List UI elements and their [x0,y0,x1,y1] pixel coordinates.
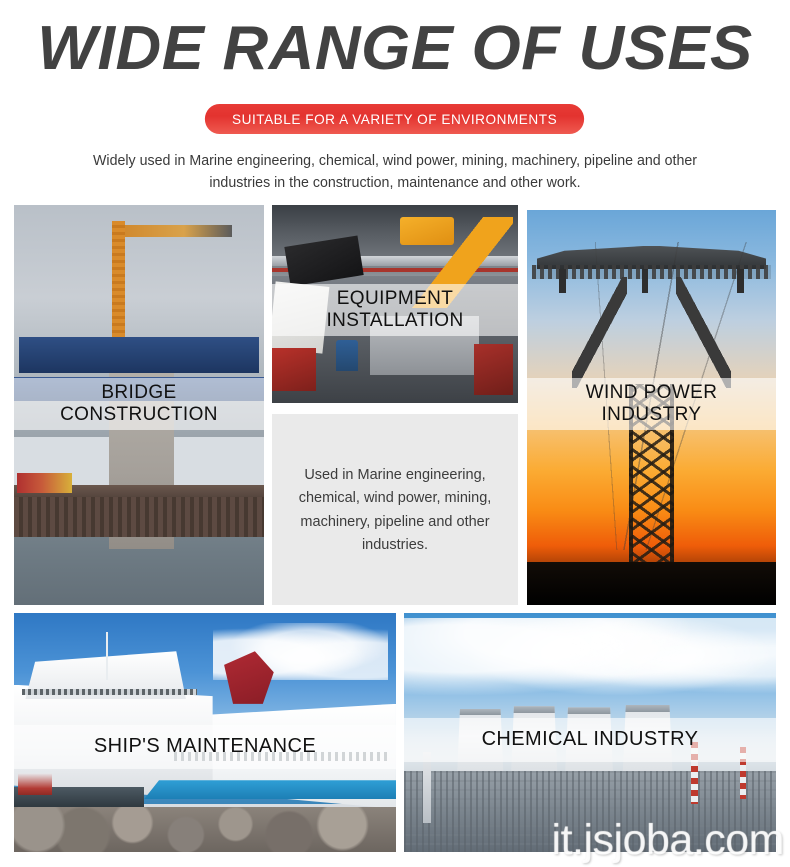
card-label-equipment: EQUIPMENT INSTALLATION [272,284,518,336]
tower-crane [112,221,126,353]
card-label-text: EQUIPMENT INSTALLATION [326,288,463,333]
card-label-text: BRIDGE CONSTRUCTION [60,382,218,427]
tug-boat [18,773,52,795]
insulator-right [737,269,743,293]
bridge-label-line1: BRIDGE [101,382,176,403]
info-note-box: Used in Marine engineering, chemical, wi… [272,414,518,605]
equipment-label-line2: INSTALLATION [326,310,463,331]
blue-girder-upper [19,337,259,373]
intro-description: Widely used in Marine engineering, chemi… [67,150,724,195]
ship-label-text: SHIP'S MAINTENANCE [94,735,316,759]
horizon-silhouette [527,562,776,605]
card-ship-maintenance[interactable]: SHIP'S MAINTENANCE [14,613,396,852]
wind-label-line2: INDUSTRY [602,404,702,425]
deck-railing [22,689,198,695]
crane-head [400,217,454,245]
red-truck-left [272,348,316,392]
worker [336,340,358,372]
page-root: WIDE RANGE OF USES SUITABLE FOR A VARIET… [0,0,790,867]
bridge-label-line2: CONSTRUCTION [60,404,218,425]
card-equipment-installation[interactable]: EQUIPMENT INSTALLATION [272,205,518,403]
pylon-crossarm [532,265,771,279]
site-vehicles [17,473,72,493]
distillation-column [423,752,431,824]
ship-mast [106,632,108,680]
card-bridge-construction[interactable]: BRIDGE CONSTRUCTION [14,205,264,605]
red-truck-right [474,344,513,395]
crane-jib [112,225,232,237]
info-note-text: Used in Marine engineering, chemical, wi… [290,464,500,558]
chemical-clouds [404,618,776,714]
breakwater-rocks [14,807,396,852]
card-label-chemical: CHEMICAL INDUSTRY [404,718,776,762]
badge-container: SUITABLE FOR A VARIETY OF ENVIRONMENTS [0,104,790,134]
insulator-center [642,269,648,293]
wind-label-line1: WIND POWER [586,382,718,403]
card-wind-power-industry[interactable]: WIND POWER INDUSTRY [527,210,776,605]
equipment-label-line1: EQUIPMENT [337,288,454,309]
card-label-text: WIND POWER INDUSTRY [586,382,718,427]
pylon-leg-left [572,277,627,388]
card-label-bridge: BRIDGE CONSTRUCTION [14,378,264,430]
site-watermark: it.jsjoba.com [552,816,784,865]
trestle-piles [14,497,264,537]
hull-blue-stripe [144,780,396,799]
chemical-label-text: CHEMICAL INDUSTRY [482,728,699,752]
card-label-wind: WIND POWER INDUSTRY [527,378,776,430]
insulator-left [559,269,565,293]
subtitle-badge: SUITABLE FOR A VARIETY OF ENVIRONMENTS [205,104,584,134]
card-label-ship: SHIP'S MAINTENANCE [14,725,396,769]
pylon-leg-right [676,277,731,388]
page-title: WIDE RANGE OF USES [0,14,790,83]
